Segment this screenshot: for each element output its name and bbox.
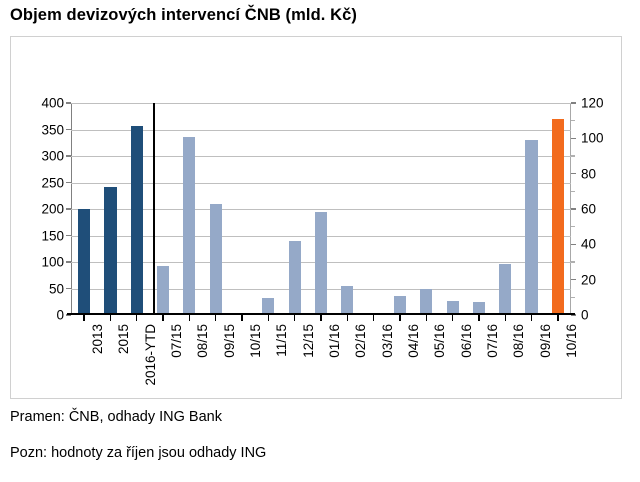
group-divider-line	[153, 103, 155, 315]
x-tick-mark	[452, 315, 453, 321]
y-tick-label-left: 350	[41, 122, 64, 137]
y-tick-mark-right-minor	[571, 297, 575, 298]
x-tick-mark	[136, 315, 137, 321]
y-tick-mark-right	[571, 244, 576, 245]
y-tick-label-right: 0	[581, 308, 589, 323]
x-tick-mark	[320, 315, 321, 321]
x-tick-label: 10/15	[248, 324, 263, 358]
plot-area: 050100150200250300350400 020406080100120…	[71, 103, 571, 315]
gridline	[71, 130, 571, 131]
axis-baseline	[67, 313, 575, 315]
x-tick-mark	[241, 315, 242, 321]
bar-07-15	[157, 266, 169, 315]
x-tick-label: 09/15	[222, 324, 237, 358]
source-note: Pramen: ČNB, odhady ING Bank	[10, 409, 222, 425]
y-tick-label-right: 80	[581, 166, 596, 181]
x-tick-label: 05/16	[432, 324, 447, 358]
y-tick-mark-left	[66, 102, 71, 103]
bar-2013	[78, 209, 90, 315]
y-tick-label-left: 150	[41, 228, 64, 243]
x-tick-label: 2013	[90, 324, 105, 354]
y-tick-label-right: 60	[581, 202, 596, 217]
gridline	[71, 103, 571, 104]
chart-panel: 050100150200250300350400 020406080100120…	[10, 36, 622, 399]
y-tick-label-left: 0	[56, 308, 64, 323]
x-tick-label: 07/15	[169, 324, 184, 358]
bar-05-16	[420, 289, 432, 316]
bar-2016-YTD	[131, 126, 143, 315]
bar-09-15	[210, 204, 222, 315]
x-tick-mark	[505, 315, 506, 321]
x-tick-label: 07/16	[485, 324, 500, 358]
x-tick-label: 06/16	[459, 324, 474, 358]
gridline	[71, 156, 571, 157]
bar-02-16	[341, 286, 353, 315]
y-tick-mark-left	[66, 182, 71, 183]
x-tick-label: 2015	[116, 324, 131, 354]
x-tick-label: 2016-YTD	[143, 324, 158, 386]
x-tick-mark	[426, 315, 427, 321]
y-tick-mark-right	[571, 208, 576, 209]
y-tick-mark-right	[571, 102, 576, 103]
x-tick-mark	[294, 315, 295, 321]
bar-04-16	[394, 296, 406, 315]
y-tick-mark-left	[66, 235, 71, 236]
bar-01-16	[315, 212, 327, 315]
y-tick-label-left: 200	[41, 202, 64, 217]
x-tick-mark	[478, 315, 479, 321]
y-tick-label-right: 40	[581, 237, 596, 252]
x-tick-mark	[373, 315, 374, 321]
y-tick-mark-left	[66, 288, 71, 289]
x-tick-mark	[399, 315, 400, 321]
x-tick-mark	[215, 315, 216, 321]
gridline	[71, 183, 571, 184]
y-tick-label-right: 20	[581, 272, 596, 287]
y-tick-mark-right	[571, 138, 576, 139]
x-tick-mark	[189, 315, 190, 321]
y-tick-label-left: 250	[41, 175, 64, 190]
x-tick-mark	[531, 315, 532, 321]
x-tick-label: 08/15	[195, 324, 210, 358]
x-tick-mark	[557, 315, 558, 321]
x-tick-mark	[347, 315, 348, 321]
y-tick-mark-left	[66, 155, 71, 156]
y-tick-mark-right-minor	[571, 120, 575, 121]
y-tick-mark-right-minor	[571, 155, 575, 156]
x-tick-label: 01/16	[327, 324, 342, 358]
y-tick-mark-right-minor	[571, 191, 575, 192]
y-tick-label-right: 120	[581, 96, 604, 111]
x-tick-mark	[162, 315, 163, 321]
y-tick-mark-right	[571, 173, 576, 174]
bar-10-16	[552, 119, 564, 315]
bar-2015	[104, 187, 116, 315]
bar-08-16	[499, 264, 511, 315]
y-tick-label-left: 50	[49, 281, 64, 296]
x-tick-label: 12/15	[301, 324, 316, 358]
x-tick-label: 08/16	[511, 324, 526, 358]
bar-09-16	[525, 140, 537, 315]
y-tick-label-left: 300	[41, 149, 64, 164]
y-tick-mark-right	[571, 279, 576, 280]
y-tick-mark-right-minor	[571, 226, 575, 227]
bar-12-15	[289, 241, 301, 315]
x-tick-label: 03/16	[380, 324, 395, 358]
chart-figure: Objem devizových intervencí ČNB (mld. Kč…	[0, 0, 640, 482]
x-tick-mark	[110, 315, 111, 321]
y-tick-mark-left	[66, 129, 71, 130]
gridline	[71, 209, 571, 210]
y-tick-mark-right-minor	[571, 261, 575, 262]
x-tick-label: 11/15	[274, 324, 289, 357]
y-tick-mark-left	[66, 261, 71, 262]
chart-title: Objem devizových intervencí ČNB (mld. Kč…	[10, 6, 357, 25]
x-tick-label: 10/16	[564, 324, 579, 358]
y-tick-label-left: 100	[41, 255, 64, 270]
x-tick-label: 09/16	[538, 324, 553, 358]
bar-08-15	[183, 137, 195, 315]
x-tick-label: 04/16	[406, 324, 421, 358]
x-tick-mark	[268, 315, 269, 321]
estimate-note: Pozn: hodnoty za říjen jsou odhady ING	[10, 445, 266, 461]
y-tick-mark-left	[66, 208, 71, 209]
y-tick-label-right: 100	[581, 131, 604, 146]
x-tick-mark	[83, 315, 84, 321]
x-tick-label: 02/16	[353, 324, 368, 358]
y-tick-label-left: 400	[41, 96, 64, 111]
